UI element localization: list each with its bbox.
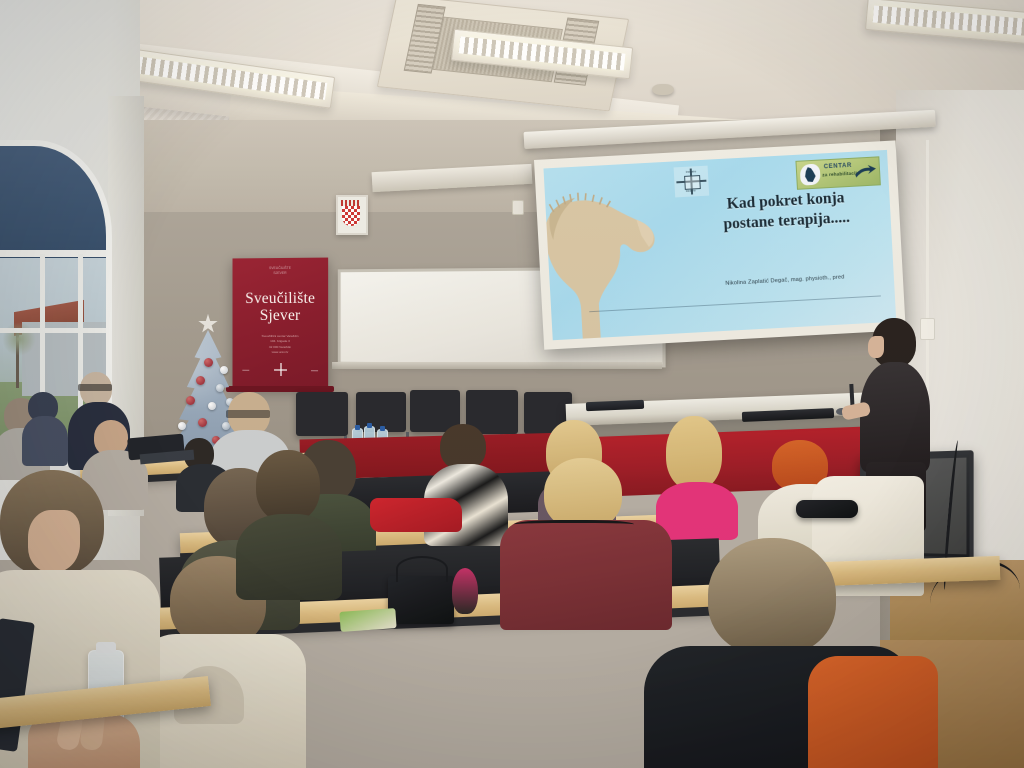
- window-mullion-horizontal: [0, 328, 112, 333]
- stacking-chair: [296, 392, 348, 436]
- banner-mark-right: [311, 370, 318, 371]
- bottle-cap: [96, 642, 116, 653]
- banner-top-mark-line-2: SJEVER: [233, 271, 329, 277]
- coat-of-arms-shield: [342, 206, 360, 226]
- tree-ornament: [186, 396, 195, 405]
- audience-member: [236, 450, 340, 588]
- anatomical-planes-diagram: kranijalno kaudalno: [674, 166, 710, 198]
- red-jacket-on-desk: [370, 498, 462, 532]
- wall-socket: [512, 200, 524, 215]
- handbag-strap: [396, 556, 448, 582]
- eyeglasses-icon: [226, 410, 270, 418]
- tree-ornament: [196, 376, 205, 385]
- window-blind[interactable]: [0, 146, 112, 258]
- logo-primary-text: CENTAR: [824, 163, 852, 171]
- presenter-face: [868, 336, 884, 358]
- croatian-coat-of-arms-icon: [336, 195, 368, 235]
- tree-ornament: [178, 422, 186, 430]
- notebook-on-desk: [339, 608, 396, 632]
- audience-member: [24, 392, 70, 458]
- audience-member: [500, 458, 670, 618]
- eyeglasses-icon: [78, 384, 112, 391]
- centar-logo: CENTAR za rehabilitaciju: [795, 156, 880, 190]
- slide-author: Nikolina Zaplatić Degač, mag. physioth.,…: [670, 271, 896, 289]
- presentation-slide: kranijalno kaudalno CENTAR za rehabilita…: [543, 150, 896, 340]
- smoke-detector: [652, 84, 674, 95]
- logo-horse-head-icon: [800, 164, 821, 186]
- ceiling-light: [865, 0, 1024, 46]
- tree-ornament: [204, 358, 213, 367]
- handbag: [388, 576, 454, 624]
- logo-horse-arrow-icon: [854, 165, 877, 180]
- lecture-hall-photo: kranijalno kaudalno CENTAR za rehabilita…: [0, 0, 1024, 768]
- whiteboard-tray: [332, 362, 662, 369]
- horse-silhouette-icon: [543, 176, 681, 341]
- keychain-pom: [452, 568, 478, 614]
- tree-ornament: [198, 418, 207, 427]
- diagram-label-bottom: kaudalno: [686, 189, 696, 193]
- projection-screen: kranijalno kaudalno CENTAR za rehabilita…: [534, 140, 906, 349]
- handbag-on-desk: [796, 500, 858, 518]
- tree-ornament: [220, 366, 228, 374]
- audience-member-foreground: [660, 538, 890, 768]
- diagram-label-top: kranijalno: [686, 170, 696, 174]
- window-transom: [0, 250, 112, 257]
- orange-jacket: [808, 656, 938, 768]
- banner-cross-mark: [274, 363, 287, 376]
- face: [28, 510, 80, 572]
- presenter-top: [860, 362, 930, 472]
- banner-top-mark: SVEUČILIŠTE SJEVER: [233, 266, 329, 278]
- tree-ornament: [216, 384, 224, 392]
- banner-title-line-1: Sveučilište: [233, 290, 329, 308]
- chair-back-rail: [514, 520, 634, 531]
